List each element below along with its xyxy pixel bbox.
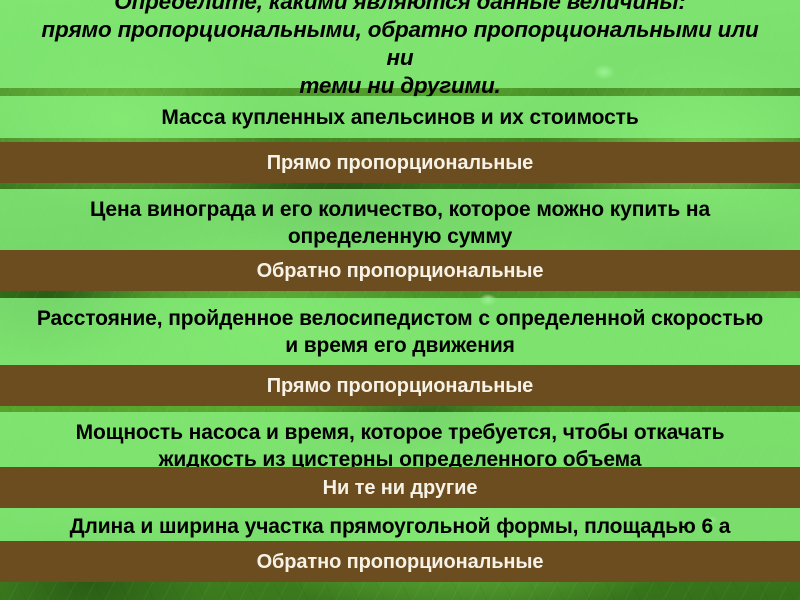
slide-title-band: Определите, какими являются данные велич…: [0, 0, 800, 88]
question-3-line-1: Расстояние, пройденное велосипедистом с …: [8, 305, 792, 332]
question-1-line-1: Масса купленных апельсинов и их стоимост…: [8, 104, 792, 131]
answer-2-text: Обратно пропорциональные: [8, 258, 792, 284]
question-band-1: Масса купленных апельсинов и их стоимост…: [0, 96, 800, 138]
answer-band-2: Обратно пропорциональные: [0, 250, 800, 291]
answer-4-text: Ни те ни другие: [8, 475, 792, 501]
question-5-line-1: Длина и ширина участка прямоугольной фор…: [8, 513, 792, 540]
question-band-2: Цена винограда и его количество, которое…: [0, 189, 800, 257]
slide-canvas: Определите, какими являются данные велич…: [0, 0, 800, 600]
answer-3-text: Прямо пропорциональные: [8, 373, 792, 399]
question-2-line-1: Цена винограда и его количество, которое…: [8, 196, 792, 223]
answer-band-4: Ни те ни другие: [0, 467, 800, 508]
slide-title-line-1: Определите, какими являются данные велич…: [28, 0, 772, 16]
answer-band-3: Прямо пропорциональные: [0, 365, 800, 406]
answer-band-5: Обратно пропорциональные: [0, 541, 800, 582]
answer-1-text: Прямо пропорциональные: [8, 150, 792, 176]
slide-title-line-2: прямо пропорциональными, обратно пропорц…: [28, 16, 772, 72]
question-4-line-1: Мощность насоса и время, которое требует…: [8, 419, 792, 446]
question-band-3: Расстояние, пройденное велосипедистом с …: [0, 298, 800, 366]
question-2-line-2: определенную сумму: [8, 223, 792, 250]
question-3-line-2: и время его движения: [8, 332, 792, 359]
answer-band-1: Прямо пропорциональные: [0, 142, 800, 183]
answer-5-text: Обратно пропорциональные: [8, 549, 792, 575]
